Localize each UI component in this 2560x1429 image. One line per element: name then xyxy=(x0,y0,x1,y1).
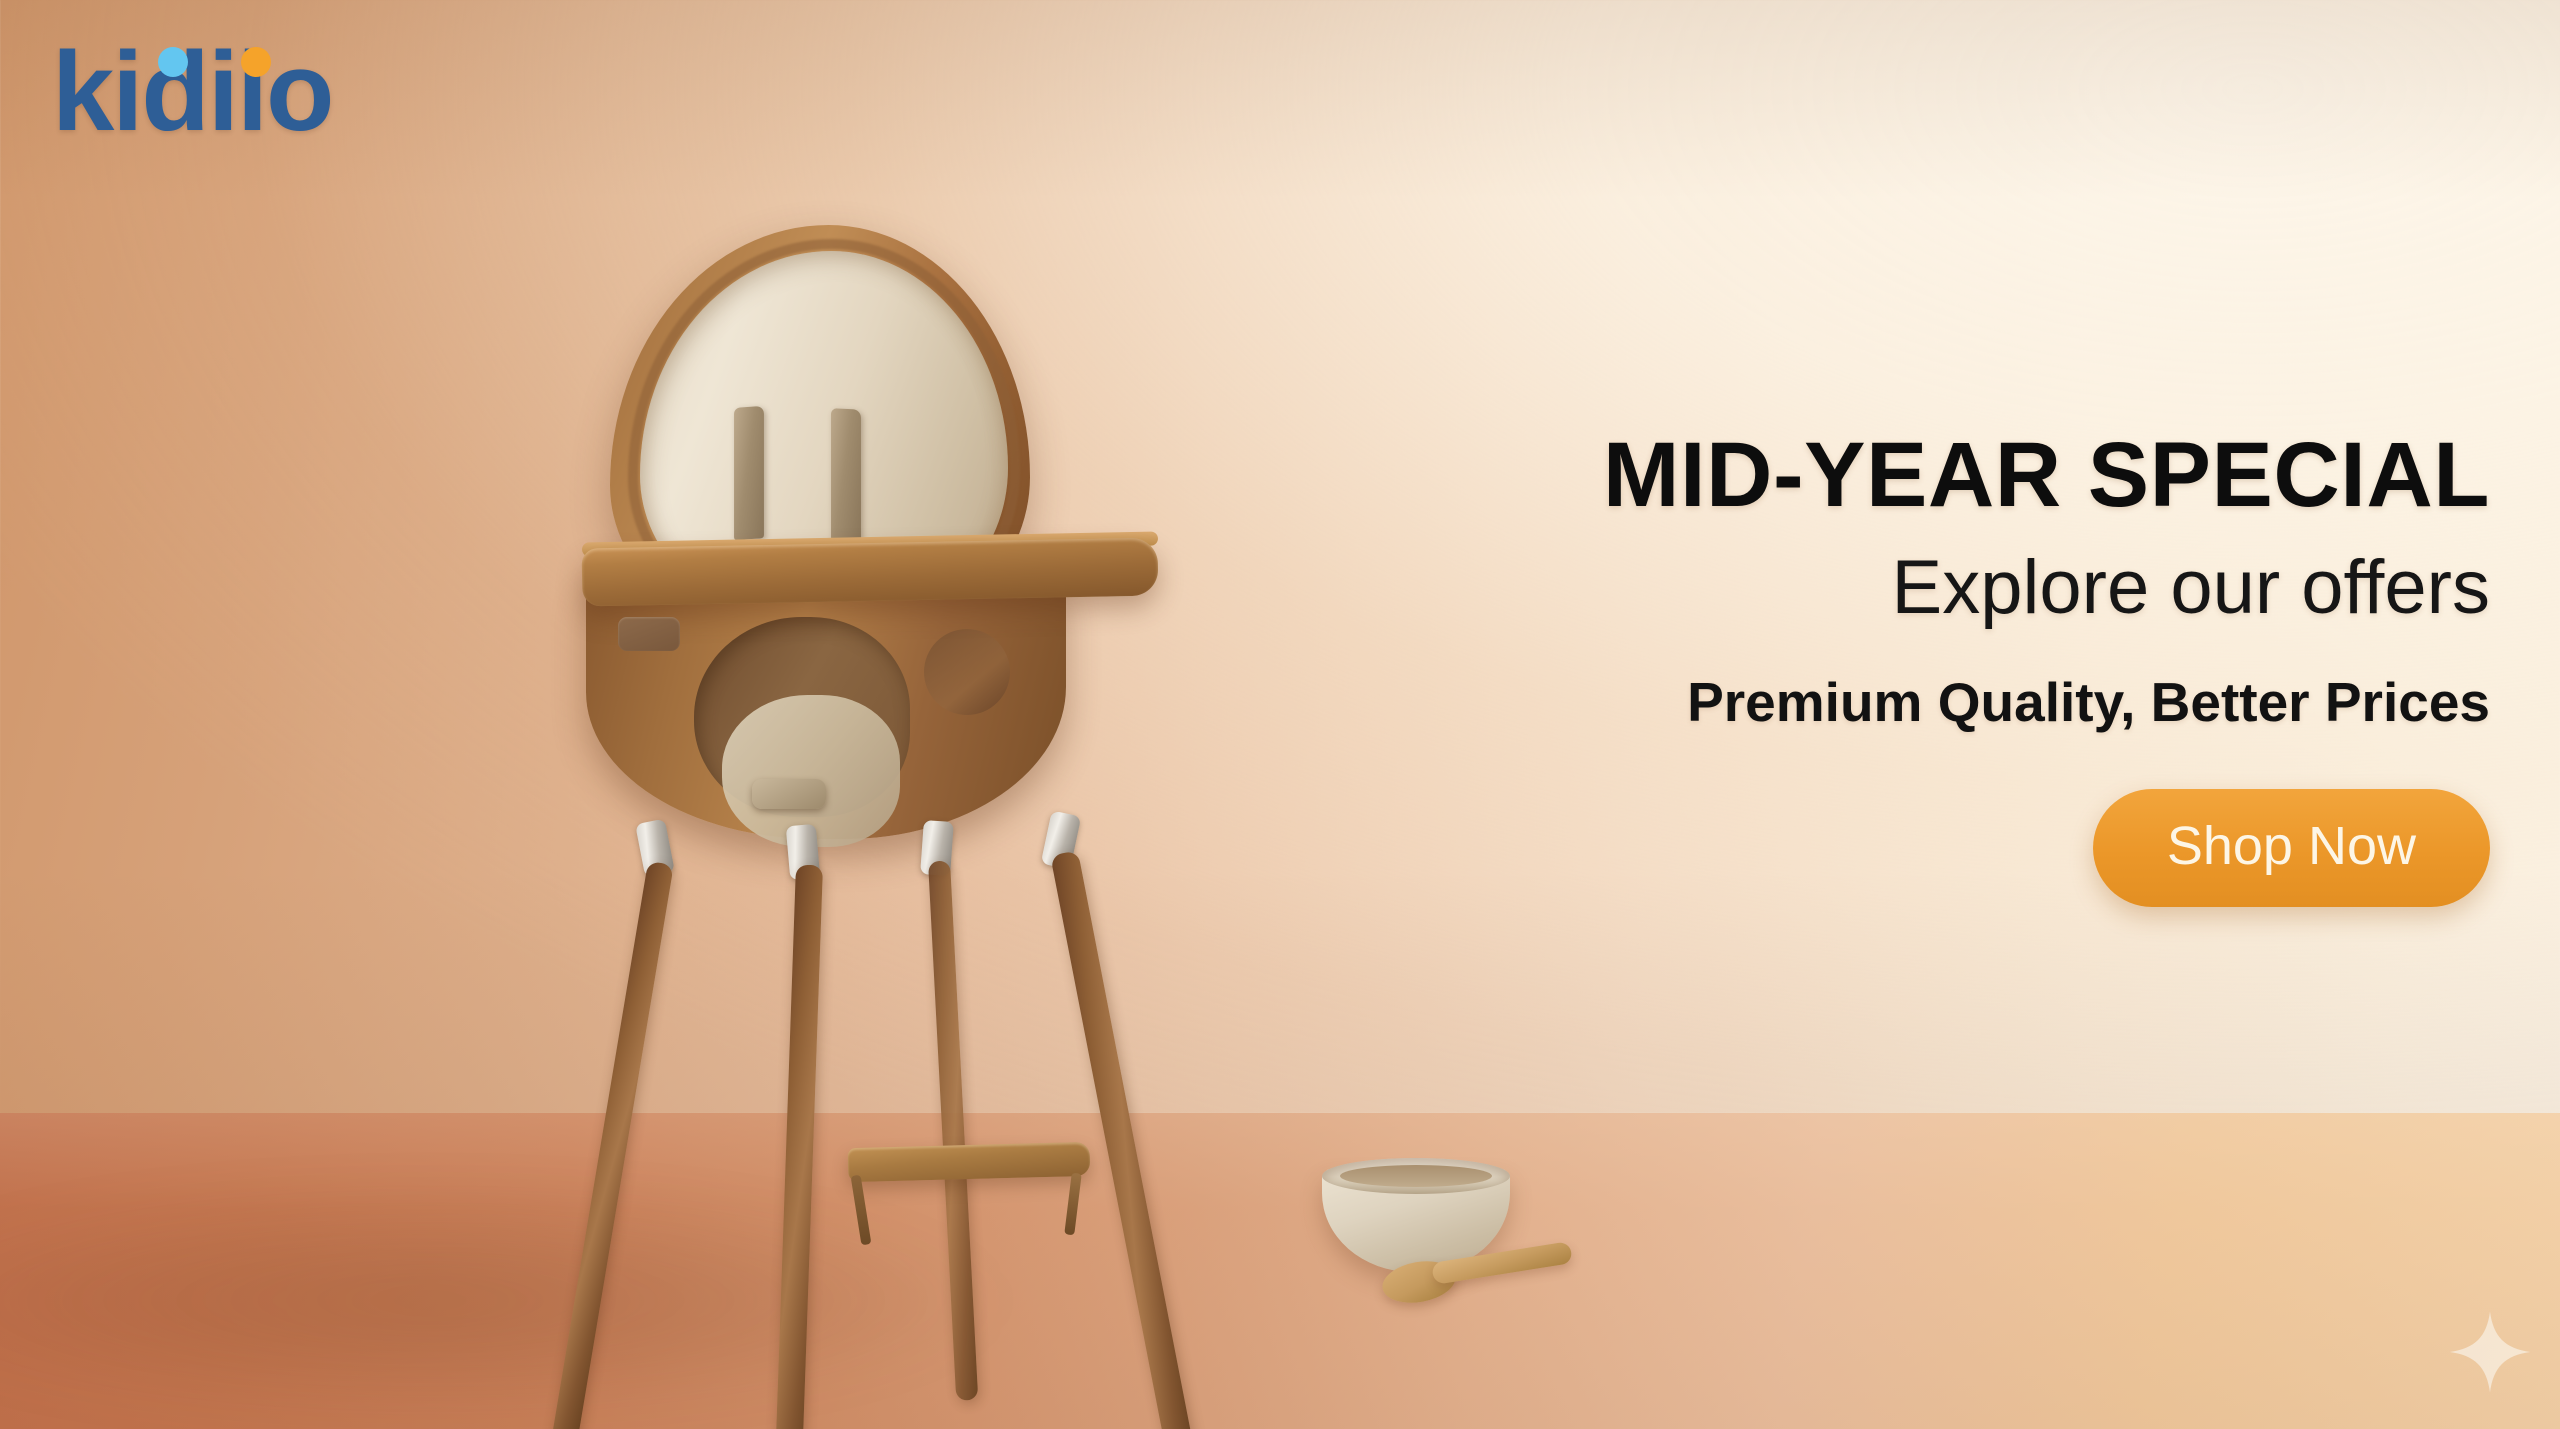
footrest-brace-right xyxy=(1064,1173,1081,1236)
brand-logo[interactable]: kidilo xyxy=(52,36,332,148)
chair-tray-latch xyxy=(618,617,680,651)
shop-now-button[interactable]: Shop Now xyxy=(2093,789,2490,907)
harness-strap-left xyxy=(734,406,764,540)
chair-leg-front-left xyxy=(547,861,674,1429)
harness-buckle xyxy=(752,779,826,809)
ceramic-bowl-well xyxy=(1340,1165,1492,1187)
chair-leg-back xyxy=(928,860,978,1400)
chair-side-cutout xyxy=(924,629,1010,715)
logo-wordmark: kidilo xyxy=(52,36,332,148)
promo-tagline: Premium Quality, Better Prices xyxy=(1390,672,2490,733)
promo-subheadline: Explore our offers xyxy=(1390,548,2490,629)
logo-dot-orange-icon xyxy=(241,47,271,77)
chair-leg-middle xyxy=(773,865,823,1429)
logo-text: kidilo xyxy=(52,29,332,154)
harness-strap-right xyxy=(831,408,861,542)
chair-footrest xyxy=(848,1142,1091,1182)
promo-headline: MID-YEAR SPECIAL xyxy=(1390,428,2490,524)
promo-copy-block: MID-YEAR SPECIAL Explore our offers Prem… xyxy=(1390,428,2490,907)
product-high-chair xyxy=(490,225,1230,1385)
chair-tray xyxy=(581,537,1158,606)
promo-banner: kidilo MID-YE xyxy=(0,0,2560,1429)
logo-dot-blue-icon xyxy=(158,47,188,77)
cta-container: Shop Now xyxy=(1390,789,2490,907)
chair-leg-front-right xyxy=(1050,850,1201,1429)
sparkle-icon xyxy=(2448,1310,2532,1394)
footrest-brace-left xyxy=(851,1175,872,1246)
